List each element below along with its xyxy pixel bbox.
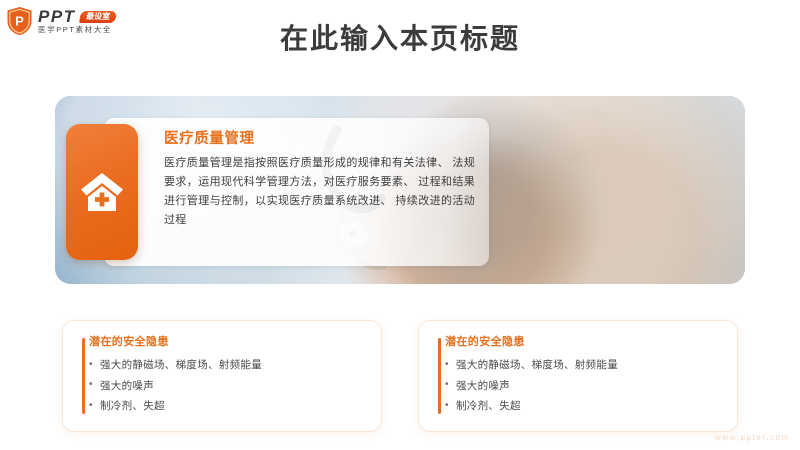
hero-heading: 医疗质量管理 (164, 131, 475, 148)
list-item: 强大的静磁场、梯度场、射频能量 (89, 355, 365, 375)
page-title: 在此输入本页标题 (0, 17, 800, 57)
hospital-cross-icon (66, 124, 138, 260)
info-box-title: 潜在的安全隐患 (445, 335, 721, 349)
list-item: 制冷剂、失超 (89, 396, 365, 416)
info-box-list: 强大的静磁场、梯度场、射频能量 强大的噪声 制冷剂、失超 (89, 355, 365, 416)
info-box-left[interactable]: 潜在的安全隐患 强大的静磁场、梯度场、射频能量 强大的噪声 制冷剂、失超 (62, 320, 382, 432)
accent-bar (438, 338, 441, 414)
slide-canvas: P PPT 最设室 医学PPT素材大全 在此输入本页标题 医疗质量管理 医疗质量… (0, 0, 800, 450)
info-box-right[interactable]: 潜在的安全隐患 强大的静磁场、梯度场、射频能量 强大的噪声 制冷剂、失超 (418, 320, 738, 432)
info-box-title: 潜在的安全隐患 (89, 335, 365, 349)
list-item: 制冷剂、失超 (445, 396, 721, 416)
list-item: 强大的噪声 (89, 376, 365, 396)
watermark: www.ppter.com (715, 433, 790, 442)
hero-body-text: 医疗质量管理是指按照医疗质量形成的规律和有关法律、 法规要求，运用现代科学管理方… (164, 154, 475, 230)
info-boxes-row: 潜在的安全隐患 强大的静磁场、梯度场、射频能量 强大的噪声 制冷剂、失超 潜在的… (62, 320, 738, 432)
accent-bar (82, 338, 85, 414)
list-item: 强大的噪声 (445, 376, 721, 396)
hero-text-panel: 医疗质量管理 医疗质量管理是指按照医疗质量形成的规律和有关法律、 法规要求，运用… (104, 118, 489, 266)
info-box-list: 强大的静磁场、梯度场、射频能量 强大的噪声 制冷剂、失超 (445, 355, 721, 416)
list-item: 强大的静磁场、梯度场、射频能量 (445, 355, 721, 375)
